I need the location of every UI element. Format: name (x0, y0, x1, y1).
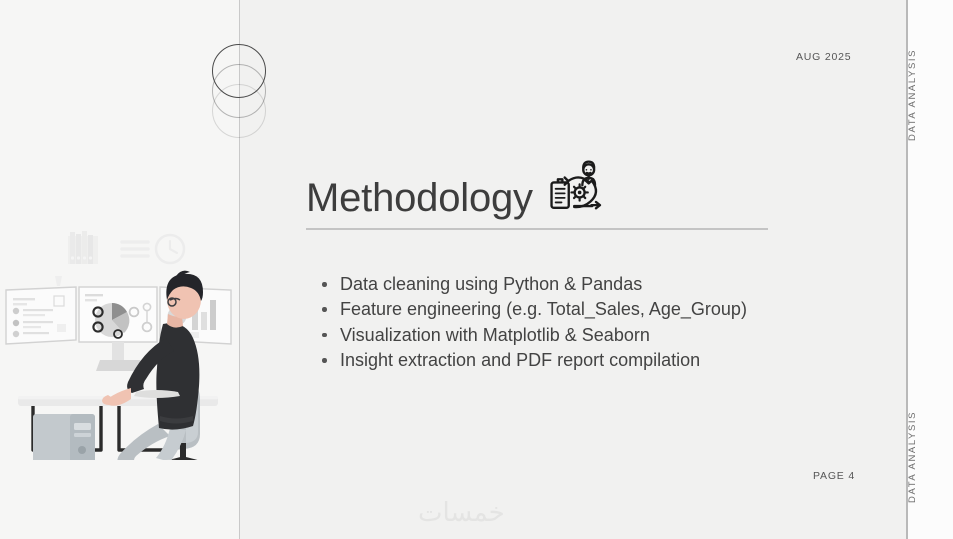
side-label-top: DATA ANALYSIS (907, 40, 953, 150)
ring-inner (212, 84, 266, 138)
list-item: Data cleaning using Python & Pandas (318, 272, 878, 297)
page-title: Methodology (306, 178, 533, 218)
list-item: Visualization with Matplotlib & Seaborn (318, 323, 878, 348)
process-management-icon (547, 158, 605, 216)
slide-page: AUG 2025 DATA ANALYSIS DATA ANALYSIS Met… (0, 0, 953, 539)
list-item: Insight extraction and PDF report compil… (318, 348, 878, 373)
side-label-bottom: DATA ANALYSIS (907, 402, 953, 512)
watermark: خمسات (418, 498, 505, 528)
date-label: AUG 2025 (796, 51, 851, 63)
list-item: Feature engineering (e.g. Total_Sales, A… (318, 297, 878, 322)
methodology-bullet-list: Data cleaning using Python & Pandas Feat… (318, 272, 878, 374)
page-title-row: Methodology (306, 158, 768, 218)
title-underline (306, 228, 768, 230)
page-number-label: PAGE 4 (813, 470, 855, 482)
three-rings-logo (212, 44, 272, 140)
data-analyst-at-desk-illustration (0, 228, 240, 460)
